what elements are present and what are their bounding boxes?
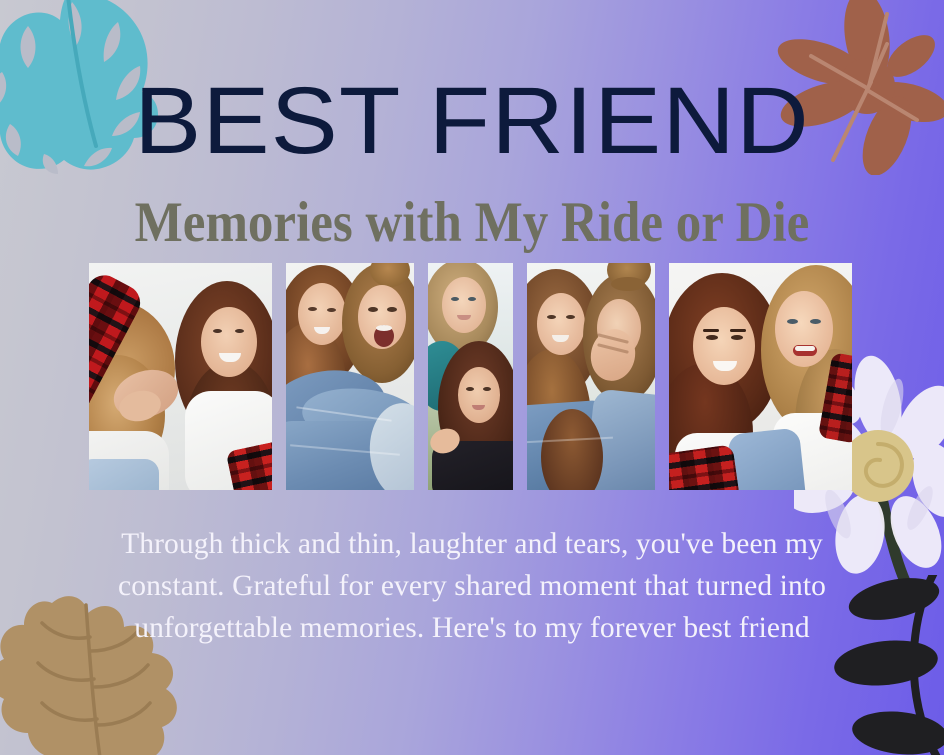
poster-subtitle: Memories with My Ride or Die (0, 195, 944, 252)
poster-canvas: BEST FRIEND Memories with My Ride or Die (0, 0, 944, 755)
poster-title: BEST FRIEND (0, 74, 944, 169)
photo-1 (89, 263, 272, 490)
photo-3 (428, 263, 513, 490)
photo-4 (527, 263, 655, 490)
photo-5 (669, 263, 852, 490)
poster-caption: Through thick and thin, laughter and tea… (72, 523, 872, 649)
photo-2 (286, 263, 414, 490)
photo-strip (89, 263, 856, 490)
